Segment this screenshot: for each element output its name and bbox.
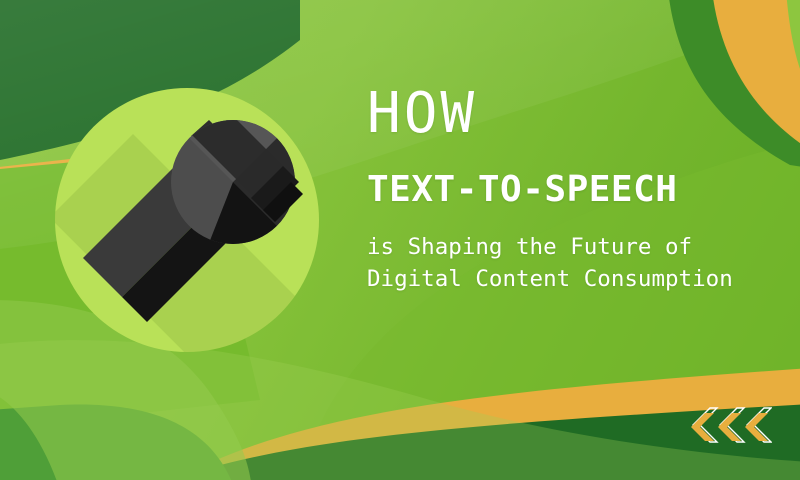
chevron-group (684, 404, 772, 450)
chevron-left-icon-1 (691, 408, 717, 442)
subtitle-line-2: Digital Content Consumption (367, 264, 787, 296)
subtitle-line-1: is Shaping the Future of (367, 232, 787, 264)
chevron-left-icon-3 (745, 408, 771, 442)
banner-root: HOW TEXT-TO-SPEECH is Shaping the Future… (0, 0, 800, 480)
page-title: TEXT-TO-SPEECH (367, 172, 787, 208)
microphone-badge (55, 88, 319, 352)
headline-block: HOW TEXT-TO-SPEECH is Shaping the Future… (367, 86, 787, 296)
kicker-text: HOW (367, 86, 787, 142)
chevron-left-icon-2 (718, 408, 744, 442)
microphone-icon (65, 110, 315, 340)
